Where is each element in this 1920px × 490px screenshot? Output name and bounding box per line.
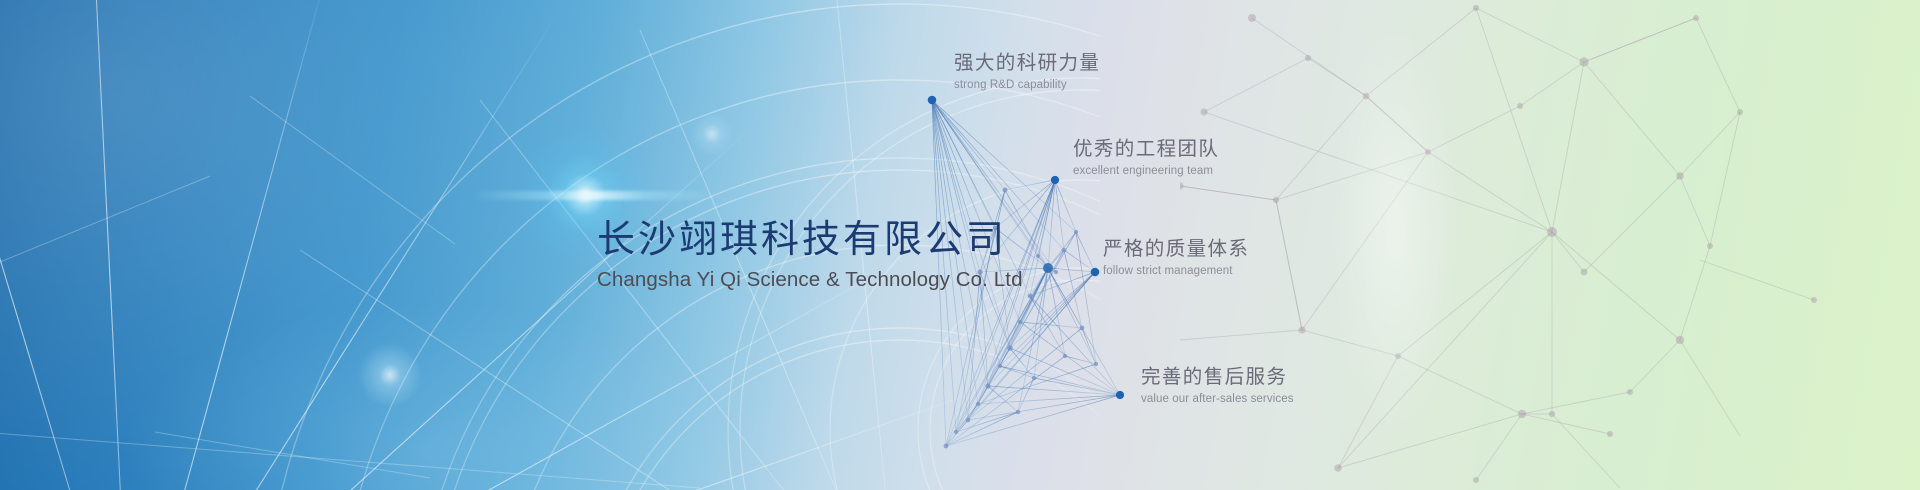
feature-cn-2: 严格的质量体系 bbox=[1103, 238, 1249, 262]
hero-banner: 长沙翊琪科技有限公司 Changsha Yi Qi Science & Tech… bbox=[0, 0, 1920, 490]
graph-anchor-node-1 bbox=[1051, 176, 1059, 184]
company-name-en: Changsha Yi Qi Science & Technology Co. … bbox=[597, 268, 1023, 292]
feature-cn-1: 优秀的工程团队 bbox=[1073, 138, 1219, 162]
feature-label-quality-system: 严格的质量体系 follow strict management bbox=[1103, 238, 1249, 277]
graph-anchor-node-0 bbox=[928, 96, 937, 105]
company-name-cn: 长沙翊琪科技有限公司 bbox=[597, 218, 1023, 263]
feature-en-2: follow strict management bbox=[1103, 265, 1249, 277]
feature-en-1: excellent engineering team bbox=[1073, 165, 1219, 177]
graph-anchor-node-2 bbox=[1091, 268, 1100, 277]
feature-label-engineering-team: 优秀的工程团队 excellent engineering team bbox=[1073, 138, 1219, 177]
feature-cn-3: 完善的售后服务 bbox=[1141, 366, 1294, 390]
feature-en-0: strong R&D capability bbox=[954, 79, 1100, 91]
polygon-mesh-decoration bbox=[1180, 0, 1920, 490]
feature-label-strong-rd: 强大的科研力量 strong R&D capability bbox=[954, 52, 1100, 91]
company-title-block: 长沙翊琪科技有限公司 Changsha Yi Qi Science & Tech… bbox=[597, 218, 1023, 292]
feature-cn-0: 强大的科研力量 bbox=[954, 52, 1100, 76]
feature-en-3: value our after-sales services bbox=[1141, 393, 1294, 405]
feature-label-after-sales: 完善的售后服务 value our after-sales services bbox=[1141, 366, 1294, 405]
graph-anchor-node-3 bbox=[1116, 391, 1124, 399]
graph-hub-node bbox=[1043, 263, 1053, 273]
